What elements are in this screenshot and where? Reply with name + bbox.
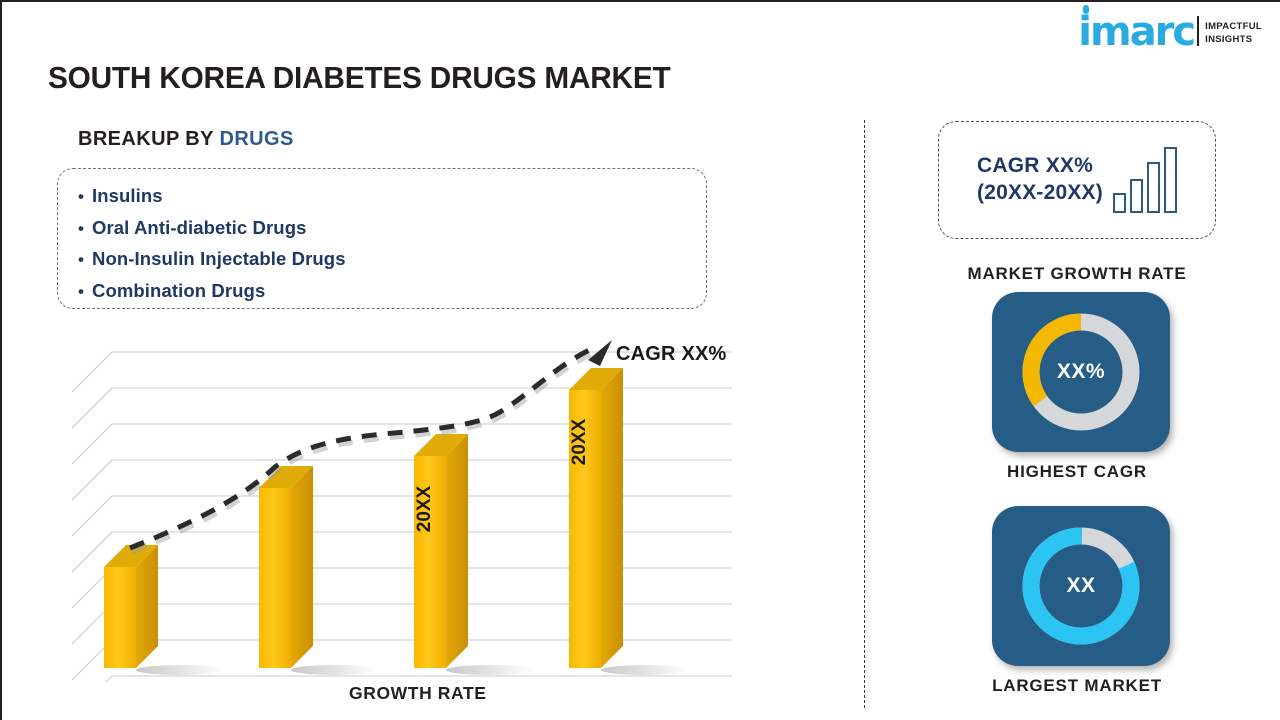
bullet-icon: • [78, 245, 92, 276]
chart-x-axis-label: GROWTH RATE [349, 683, 487, 704]
vertical-divider [864, 120, 865, 708]
cagr-line-2: (20XX-20XX) [977, 180, 1103, 207]
breakup-heading-static: BREAKUP BY [78, 128, 214, 150]
list-item-label: Combination Drugs [92, 276, 265, 307]
bar-1 [104, 545, 158, 668]
infographic-page: imarc IMPACTFUL INSIGHTS SOUTH KOREA DIA… [0, 0, 1280, 720]
chart-svg: 20XX 20XX [60, 332, 760, 682]
list-item-label: Oral Anti-diabetic Drugs [92, 213, 307, 244]
bar-shadows [136, 665, 689, 675]
bar-2 [259, 466, 313, 668]
list-item-label: Non-Insulin Injectable Drugs [92, 244, 346, 275]
list-item: • Combination Drugs [78, 276, 706, 308]
market-growth-rate-label: MARKET GROWTH RATE [897, 264, 1257, 284]
chart-gridlines [72, 352, 732, 682]
list-item: • Insulins [78, 181, 706, 213]
logo-tagline: IMPACTFUL INSIGHTS [1205, 21, 1262, 50]
logo-tagline-line2: INSIGHTS [1205, 34, 1262, 47]
bar-3: 20XX [414, 434, 468, 668]
bullet-icon: • [78, 182, 92, 213]
logo-divider [1197, 16, 1199, 46]
bullet-icon: • [78, 214, 92, 245]
bar-3-label: 20XX [414, 485, 435, 532]
logo-wordmark: imarc [1078, 14, 1194, 50]
largest-market-card: XX [992, 506, 1170, 666]
logo-wordmark-text: imarc [1078, 9, 1194, 55]
page-title: SOUTH KOREA DIABETES DRUGS MARKET [48, 60, 671, 96]
highest-cagr-value: XX% [1015, 306, 1147, 438]
logo-dot-icon [1083, 5, 1089, 14]
largest-market-donut: XX [1015, 520, 1147, 652]
list-item: • Oral Anti-diabetic Drugs [78, 213, 706, 245]
bar-4-label: 20XX [569, 418, 590, 465]
breakup-list-box: • Insulins • Oral Anti-diabetic Drugs • … [57, 168, 707, 309]
list-item-label: Insulins [92, 181, 163, 212]
list-item: • Non-Insulin Injectable Drugs [78, 244, 706, 276]
imarc-logo: imarc IMPACTFUL INSIGHTS [1078, 14, 1262, 50]
logo-tagline-line1: IMPACTFUL [1205, 21, 1262, 34]
market-growth-rate-card: CAGR XX% (20XX-20XX) [938, 121, 1216, 239]
bar-chart-icon [1113, 147, 1177, 213]
bar-4: 20XX [569, 368, 623, 668]
trend-arrowhead [588, 340, 612, 366]
highest-cagr-label: HIGHEST CAGR [897, 462, 1257, 482]
bullet-icon: • [78, 277, 92, 308]
breakup-heading-accent: DRUGS [219, 128, 293, 150]
highest-cagr-donut: XX% [1015, 306, 1147, 438]
cagr-line-1: CAGR XX% [977, 153, 1103, 180]
breakup-heading: BREAKUP BY DRUGS [78, 128, 294, 151]
largest-market-label: LARGEST MARKET [897, 676, 1257, 696]
highest-cagr-card: XX% [992, 292, 1170, 452]
cagr-trend-line [130, 340, 612, 552]
growth-bar-chart: 20XX 20XX [60, 332, 760, 682]
cagr-value-text: CAGR XX% (20XX-20XX) [977, 153, 1103, 207]
chart-cagr-annotation: CAGR XX% [616, 343, 727, 366]
largest-market-value: XX [1015, 520, 1147, 652]
